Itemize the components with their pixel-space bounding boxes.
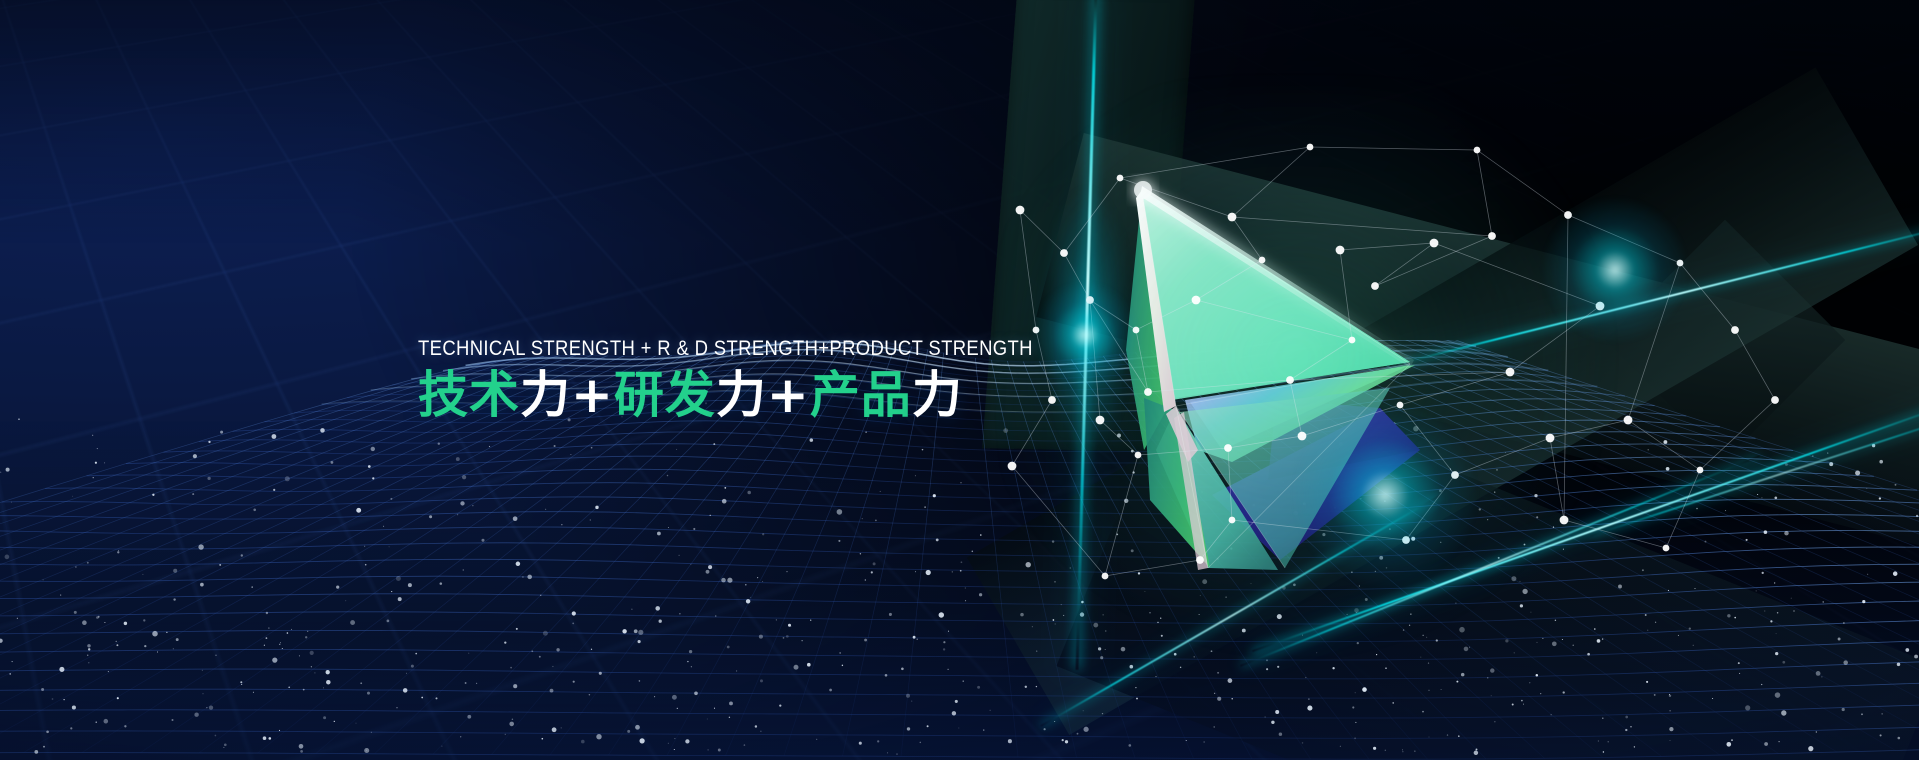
network-node [1624,416,1633,425]
network-node [1371,282,1379,290]
cn-segment-7: 力 [912,366,963,424]
beam-flare-pillar [1030,280,1140,390]
hero-text-block: TECHNICAL STRENGTH + R & D STRENGTH+PROD… [418,338,1038,422]
network-node [1196,556,1204,564]
network-link [1148,380,1290,392]
network-node [1060,249,1068,257]
network-link [1550,420,1628,438]
network-node [1096,416,1105,425]
network-link [1012,466,1105,576]
network-node [1474,147,1481,154]
cn-segment-4: 力 [716,366,767,424]
network-node [1336,246,1345,255]
network-link [1120,178,1232,217]
network-node [1286,376,1294,384]
network-node [1430,239,1439,248]
network-link [1196,300,1352,340]
network-link [1100,420,1138,455]
network-node [1102,573,1109,580]
network-link [1310,147,1477,150]
network-node [1546,434,1555,443]
network-link [1232,217,1262,260]
cn-segment-3: 研发 [614,366,716,424]
network-link [1290,340,1352,380]
cn-segment-6: 产品 [810,366,912,424]
network-link [1666,470,1700,548]
network-node [1048,396,1056,404]
network-node [1008,462,1017,471]
network-node [1506,368,1515,377]
network-node [1488,232,1496,240]
network-link [1735,330,1775,400]
network-node [1771,396,1779,404]
beam-flare-upper [1540,195,1690,345]
cn-segment-0: 技术 [418,366,520,424]
network-link [1290,372,1510,380]
network-link [1232,217,1492,236]
hero-banner: TECHNICAL STRENGTH + R & D STRENGTH+PROD… [0,0,1919,760]
cn-segment-1: 力 [520,366,571,424]
cn-segment-5: + [767,366,810,424]
network-node [1229,517,1236,524]
network-node [1192,296,1201,305]
network-node [1228,213,1237,222]
network-node [1697,467,1704,474]
chinese-tagline: 技术力+研发力+产品力 [418,369,1038,422]
network-node [1144,388,1152,396]
network-link [1700,400,1775,470]
network-link [1200,520,1232,560]
network-link [1196,260,1262,300]
network-link [1064,178,1120,253]
network-link [1105,455,1138,576]
network-node [1259,257,1266,264]
network-link [1105,560,1200,576]
network-node [1016,206,1025,215]
network-node [1117,175,1124,182]
network-node [1663,545,1670,552]
network-link [1120,147,1310,178]
network-link [1020,210,1064,253]
network-node [1560,516,1569,525]
network-link [1628,420,1700,470]
network-node [1731,326,1739,334]
network-link [1564,520,1666,548]
network-link [1228,448,1232,520]
network-link [1477,150,1492,236]
network-link [1136,300,1196,330]
cn-segment-2: + [571,366,614,424]
network-link [1138,448,1228,455]
network-node [1135,452,1142,459]
network-link [1340,250,1352,340]
network-link [1340,243,1434,250]
english-tagline: TECHNICAL STRENGTH + R & D STRENGTH+PROD… [418,338,964,359]
network-node [1224,444,1232,452]
network-node [1307,144,1314,151]
network-link [1550,438,1564,520]
network-node [1349,337,1356,344]
beam-flare-lower [1290,400,1480,590]
